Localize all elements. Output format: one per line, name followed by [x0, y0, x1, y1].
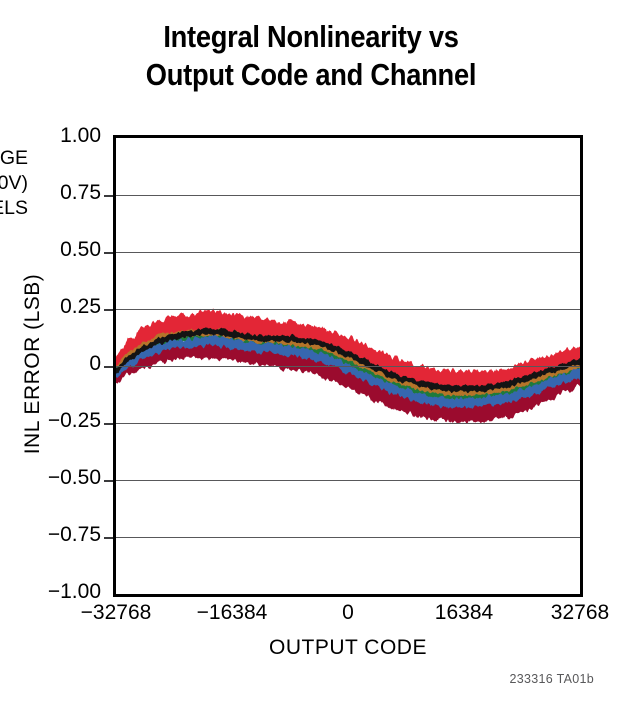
y-axis-tick-label: −0.25 — [48, 409, 101, 433]
x-axis-tick-label: 16384 — [435, 601, 493, 625]
x-axis-ticks: −32768−1638401638432768 — [113, 601, 583, 631]
y-axis-tick-label: −0.75 — [48, 523, 101, 547]
annotation-line-drive: TRUE BIPOLAR DRIVE (IN⁻ = 0V) — [0, 171, 28, 196]
y-axis-tick-mark — [104, 195, 113, 197]
x-axis-tick-label: 32768 — [551, 601, 609, 625]
gridline-horizontal — [116, 537, 580, 538]
gridline-horizontal — [116, 423, 580, 424]
chart-title-line-1: Integral Nonlinearity vs — [37, 18, 584, 56]
chart-title-line-2: Output Code and Channel — [37, 56, 584, 94]
figure-reference-code: 233316 TA01b — [510, 672, 594, 686]
x-axis-tick-label: 0 — [342, 601, 354, 625]
chart-title: Integral Nonlinearity vs Output Code and… — [37, 18, 584, 94]
inl-chart-figure: Integral Nonlinearity vs Output Code and… — [0, 0, 622, 722]
annotation-line-range: ±10.24V RANGE — [0, 146, 28, 171]
y-axis-tick-mark — [104, 252, 113, 254]
gridline-horizontal — [116, 252, 580, 253]
y-axis-tick-mark — [104, 537, 113, 539]
y-axis-tick-mark — [104, 423, 113, 425]
y-axis-tick-label: −0.50 — [48, 466, 101, 490]
chart-annotation: ±10.24V RANGE TRUE BIPOLAR DRIVE (IN⁻ = … — [0, 146, 28, 221]
y-axis-tick-label: 0.75 — [60, 181, 101, 205]
x-axis-title: OUTPUT CODE — [113, 636, 583, 660]
gridline-horizontal — [116, 366, 580, 367]
y-axis-tick-mark — [104, 309, 113, 311]
x-axis-tick-label: −32768 — [81, 601, 152, 625]
y-axis-tick-label: 0 — [89, 352, 101, 376]
gridline-horizontal — [116, 195, 580, 196]
gridline-horizontal — [116, 309, 580, 310]
y-axis-tick-label: 0.25 — [60, 295, 101, 319]
x-axis-tick-label: −16384 — [197, 601, 268, 625]
y-axis-tick-label: 1.00 — [60, 124, 101, 148]
plot-area — [113, 135, 583, 597]
gridline-horizontal — [116, 480, 580, 481]
y-axis-tick-label: 0.50 — [60, 238, 101, 262]
annotation-line-channels: ALL CHANNELS — [0, 196, 28, 221]
y-axis-title: INL ERROR (LSB) — [21, 234, 45, 494]
y-axis-tick-mark — [104, 480, 113, 482]
y-axis-tick-mark — [104, 366, 113, 368]
